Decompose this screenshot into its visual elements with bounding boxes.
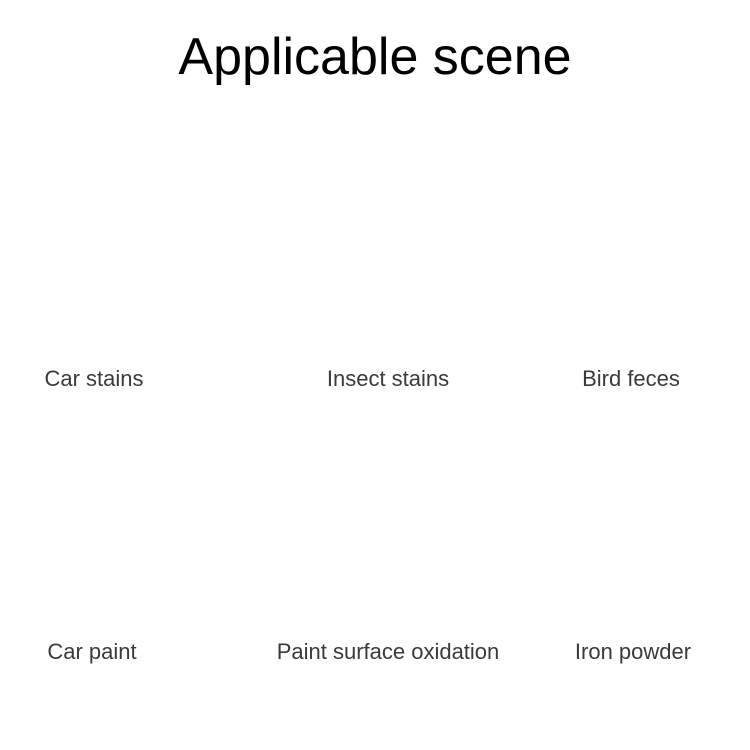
scene-label-iron-powder: Iron powder <box>538 639 750 665</box>
infographic-page: Applicable scene Car stains <box>0 0 750 750</box>
scene-label-car-paint: Car paint <box>0 639 248 665</box>
scene-grid-row-1: Car stains <box>0 118 750 393</box>
page-title: Applicable scene <box>0 26 750 88</box>
scene-grid-row-2: Car paint Paint surface oxidation <box>0 393 750 668</box>
scene-grid: Car stains <box>0 118 750 668</box>
scene-label-paint-surface-oxidation: Paint surface oxidation <box>261 639 515 665</box>
scene-label-insect-stains: Insect stains <box>261 366 515 392</box>
scene-label-bird-feces: Bird feces <box>538 366 750 392</box>
scene-label-car-stains: Car stains <box>0 366 248 392</box>
